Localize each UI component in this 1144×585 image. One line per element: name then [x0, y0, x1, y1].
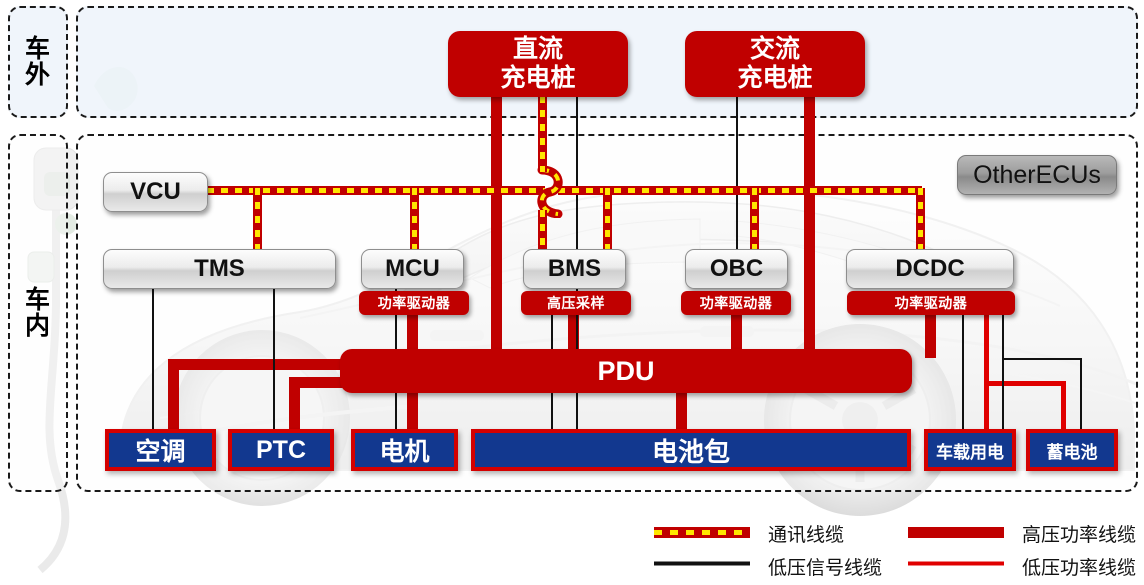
node-ac-charging-pile[interactable]: 交流 充电桩: [685, 31, 865, 97]
lvp-dcdc-to-vehicle-power: [984, 310, 989, 433]
signal-dcdc-to-vehicle-power: [962, 310, 964, 433]
signal-dcdc-to-storage-battery-h: [1002, 358, 1082, 360]
mcu-label: MCU: [385, 255, 440, 283]
pdu-label: PDU: [597, 356, 654, 387]
hv-dcdc-to-pdu: [925, 310, 936, 358]
lvp-dcdc-to-storage-battery-v: [1061, 381, 1066, 433]
mcu-power-driver-label: 功率驱动器: [378, 293, 451, 313]
obc-power-driver-tag: 功率驱动器: [681, 291, 791, 315]
dc-charging-pile-line2: 充电桩: [500, 64, 575, 94]
dcdc-power-driver-label: 功率驱动器: [895, 293, 968, 313]
dcdc-power-driver-tag: 功率驱动器: [847, 291, 1015, 315]
obc-power-driver-label: 功率驱动器: [700, 293, 773, 313]
bms-hv-sampling-tag: 高压采样: [521, 291, 631, 315]
hv-pdu-to-battery-pack: [676, 392, 687, 433]
hv-dc-pile-to-pdu: [491, 96, 502, 358]
comm-dc-pile-drop-upper: [540, 96, 545, 172]
bms-label: BMS: [548, 255, 601, 283]
signal-tms-to-ac-unit: [152, 287, 154, 433]
tms-label: TMS: [194, 255, 245, 283]
hv-pdu-to-motor: [407, 392, 418, 433]
signal-dcdc-to-storage-battery-v1: [1002, 310, 1004, 433]
vehicle-power-label: 车载用电: [936, 438, 1004, 463]
hv-pdu-to-ac-unit-h: [168, 359, 353, 370]
legend-swatch-hv: [908, 527, 1004, 538]
signal-storage-battery-drop: [1080, 358, 1082, 433]
node-other-ecus[interactable]: OtherECUs: [957, 155, 1117, 195]
lvp-dcdc-to-storage-battery-h: [984, 381, 1066, 386]
node-ptc[interactable]: PTC: [228, 429, 334, 471]
ac-charging-pile-line1: 交流: [750, 35, 800, 65]
node-vehicle-power[interactable]: 车载用电: [924, 429, 1016, 471]
node-battery-pack[interactable]: 电池包: [471, 429, 911, 471]
node-bms[interactable]: BMS: [523, 249, 626, 289]
zone-inside-label: 车 内: [8, 134, 68, 492]
hv-ac-pile-to-obc: [804, 96, 815, 358]
comm-drop-tms: [255, 188, 260, 250]
node-dc-charging-pile[interactable]: 直流 充电桩: [448, 31, 628, 97]
motor-label: 电机: [379, 432, 429, 468]
hv-pdu-to-ptc-v: [289, 377, 300, 433]
node-dcdc[interactable]: DCDC: [846, 249, 1014, 289]
signal-ac-pile-to-obc: [736, 96, 738, 250]
vcu-label: VCU: [130, 178, 181, 206]
legend-label-hv: 高压功率线缆: [1022, 520, 1136, 547]
comm-drop-dcdc: [918, 188, 923, 250]
node-ac-unit[interactable]: 空调: [105, 429, 216, 471]
signal-tms-to-ptc: [273, 287, 275, 433]
zone-outside-label-char-1: 车: [25, 36, 51, 62]
zone-inside-label-char-2: 内: [25, 313, 51, 339]
node-motor[interactable]: 电机: [351, 429, 458, 471]
comm-drop-mcu: [412, 188, 417, 250]
legend-label-lv-signal: 低压信号线缆: [768, 553, 882, 580]
ac-unit-label: 空调: [135, 432, 185, 468]
node-mcu[interactable]: MCU: [361, 249, 464, 289]
legend-label-lv-power: 低压功率线缆: [1022, 553, 1136, 580]
node-storage-battery[interactable]: 蓄电池: [1026, 429, 1118, 471]
legend-swatch-comm: [654, 527, 750, 538]
legend-swatch-lv-signal: [654, 561, 750, 566]
zone-outside-label: 车 外: [8, 6, 68, 118]
diagram-canvas: 车 外 车 内: [0, 0, 1144, 585]
zone-outside-label-char-2: 外: [25, 62, 51, 88]
other-ecus-label: OtherECUs: [973, 161, 1101, 190]
dc-charging-pile-line1: 直流: [513, 35, 563, 65]
obc-label: OBC: [710, 255, 763, 283]
comm-drop-obc: [752, 188, 757, 250]
comm-trunk-right: [558, 188, 922, 193]
mcu-power-driver-tag: 功率驱动器: [359, 291, 469, 315]
node-vcu[interactable]: VCU: [103, 172, 208, 212]
ac-charging-pile-line2: 充电桩: [737, 64, 812, 94]
storage-battery-label: 蓄电池: [1047, 438, 1098, 463]
node-tms[interactable]: TMS: [103, 249, 336, 289]
node-pdu[interactable]: PDU: [340, 349, 912, 393]
bms-hv-sampling-label: 高压采样: [547, 293, 605, 313]
ptc-label: PTC: [256, 436, 306, 465]
comm-drop-bms: [605, 188, 610, 250]
legend-swatch-lv-power: [908, 561, 1004, 566]
comm-dc-pile-drop-lower: [540, 210, 545, 250]
node-obc[interactable]: OBC: [685, 249, 788, 289]
hv-pdu-to-ac-unit-v: [168, 359, 179, 433]
legend-label-comm: 通讯线缆: [768, 520, 844, 547]
dcdc-label: DCDC: [895, 255, 964, 283]
zone-inside-label-char-1: 车: [25, 287, 51, 313]
battery-pack-label: 电池包: [652, 432, 730, 469]
legend: 通讯线缆 高压功率线缆 低压信号线缆 低压功率线缆: [640, 510, 1140, 580]
